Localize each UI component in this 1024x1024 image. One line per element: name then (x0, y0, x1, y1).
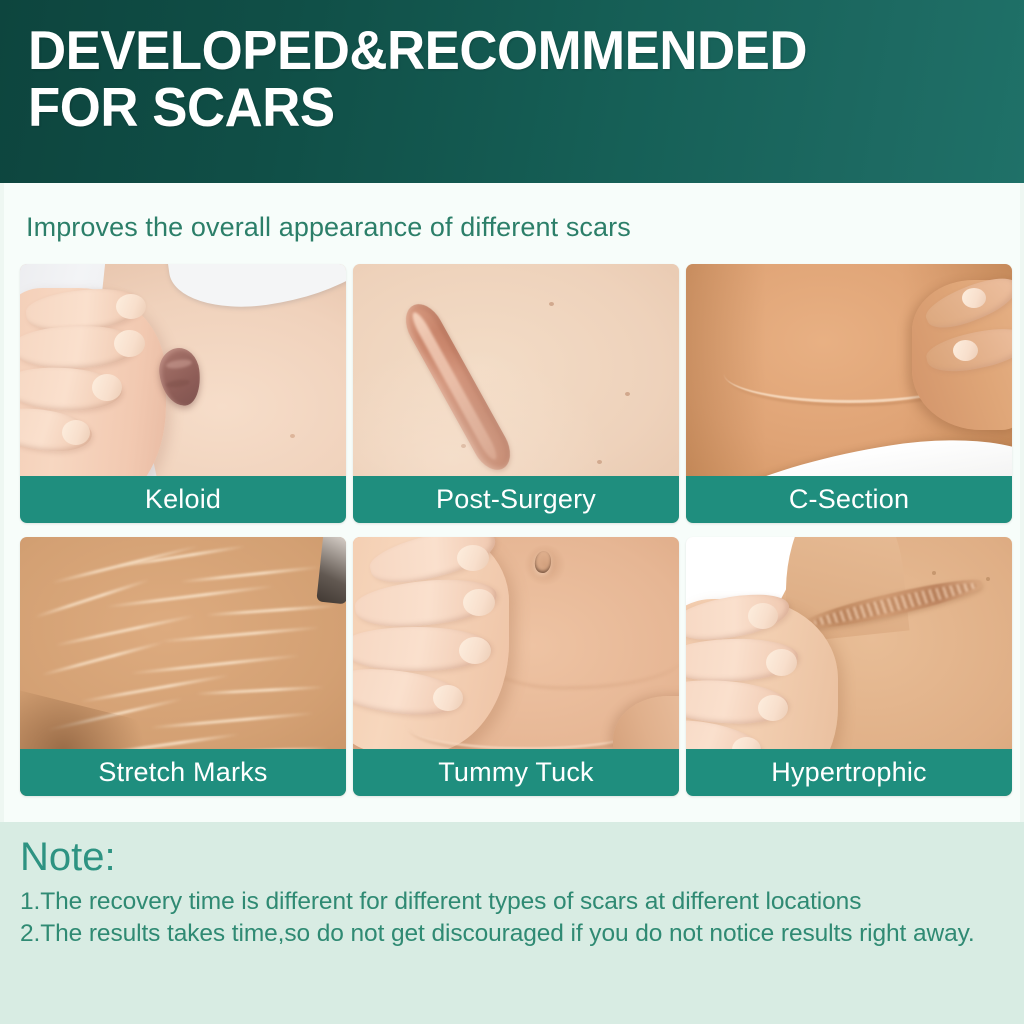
note-line-2: 2.The results takes time,so do not get d… (20, 918, 1002, 950)
scar-card-post-surgery[interactable]: Post-Surgery (353, 264, 679, 523)
product-infographic: DEVELOPED&RECOMMENDED FOR SCARS Improves… (0, 0, 1024, 1024)
header-banner: DEVELOPED&RECOMMENDED FOR SCARS (0, 0, 1024, 183)
gallery-subtitle: Improves the overall appearance of diffe… (4, 183, 1020, 243)
scar-type-grid: Keloid Post-Surgery (20, 264, 1012, 796)
note-line-1: 1.The recovery time is different for dif… (20, 886, 1002, 918)
caption-hypertrophic: Hypertrophic (686, 749, 1012, 796)
page-title: DEVELOPED&RECOMMENDED FOR SCARS (28, 22, 957, 135)
caption-stretch-marks: Stretch Marks (20, 749, 346, 796)
note-heading: Note: (20, 836, 1002, 878)
scar-card-keloid[interactable]: Keloid (20, 264, 346, 523)
caption-keloid: Keloid (20, 476, 346, 523)
caption-post-surgery: Post-Surgery (353, 476, 679, 523)
scar-card-tummy-tuck[interactable]: Tummy Tuck (353, 537, 679, 796)
scar-card-stretch-marks[interactable]: Stretch Marks (20, 537, 346, 796)
caption-tummy-tuck: Tummy Tuck (353, 749, 679, 796)
scar-card-c-section[interactable]: C-Section (686, 264, 1012, 523)
gallery-section: Improves the overall appearance of diffe… (0, 183, 1024, 822)
note-section: Note: 1.The recovery time is different f… (0, 822, 1024, 1024)
caption-c-section: C-Section (686, 476, 1012, 523)
scar-card-hypertrophic[interactable]: Hypertrophic (686, 537, 1012, 796)
